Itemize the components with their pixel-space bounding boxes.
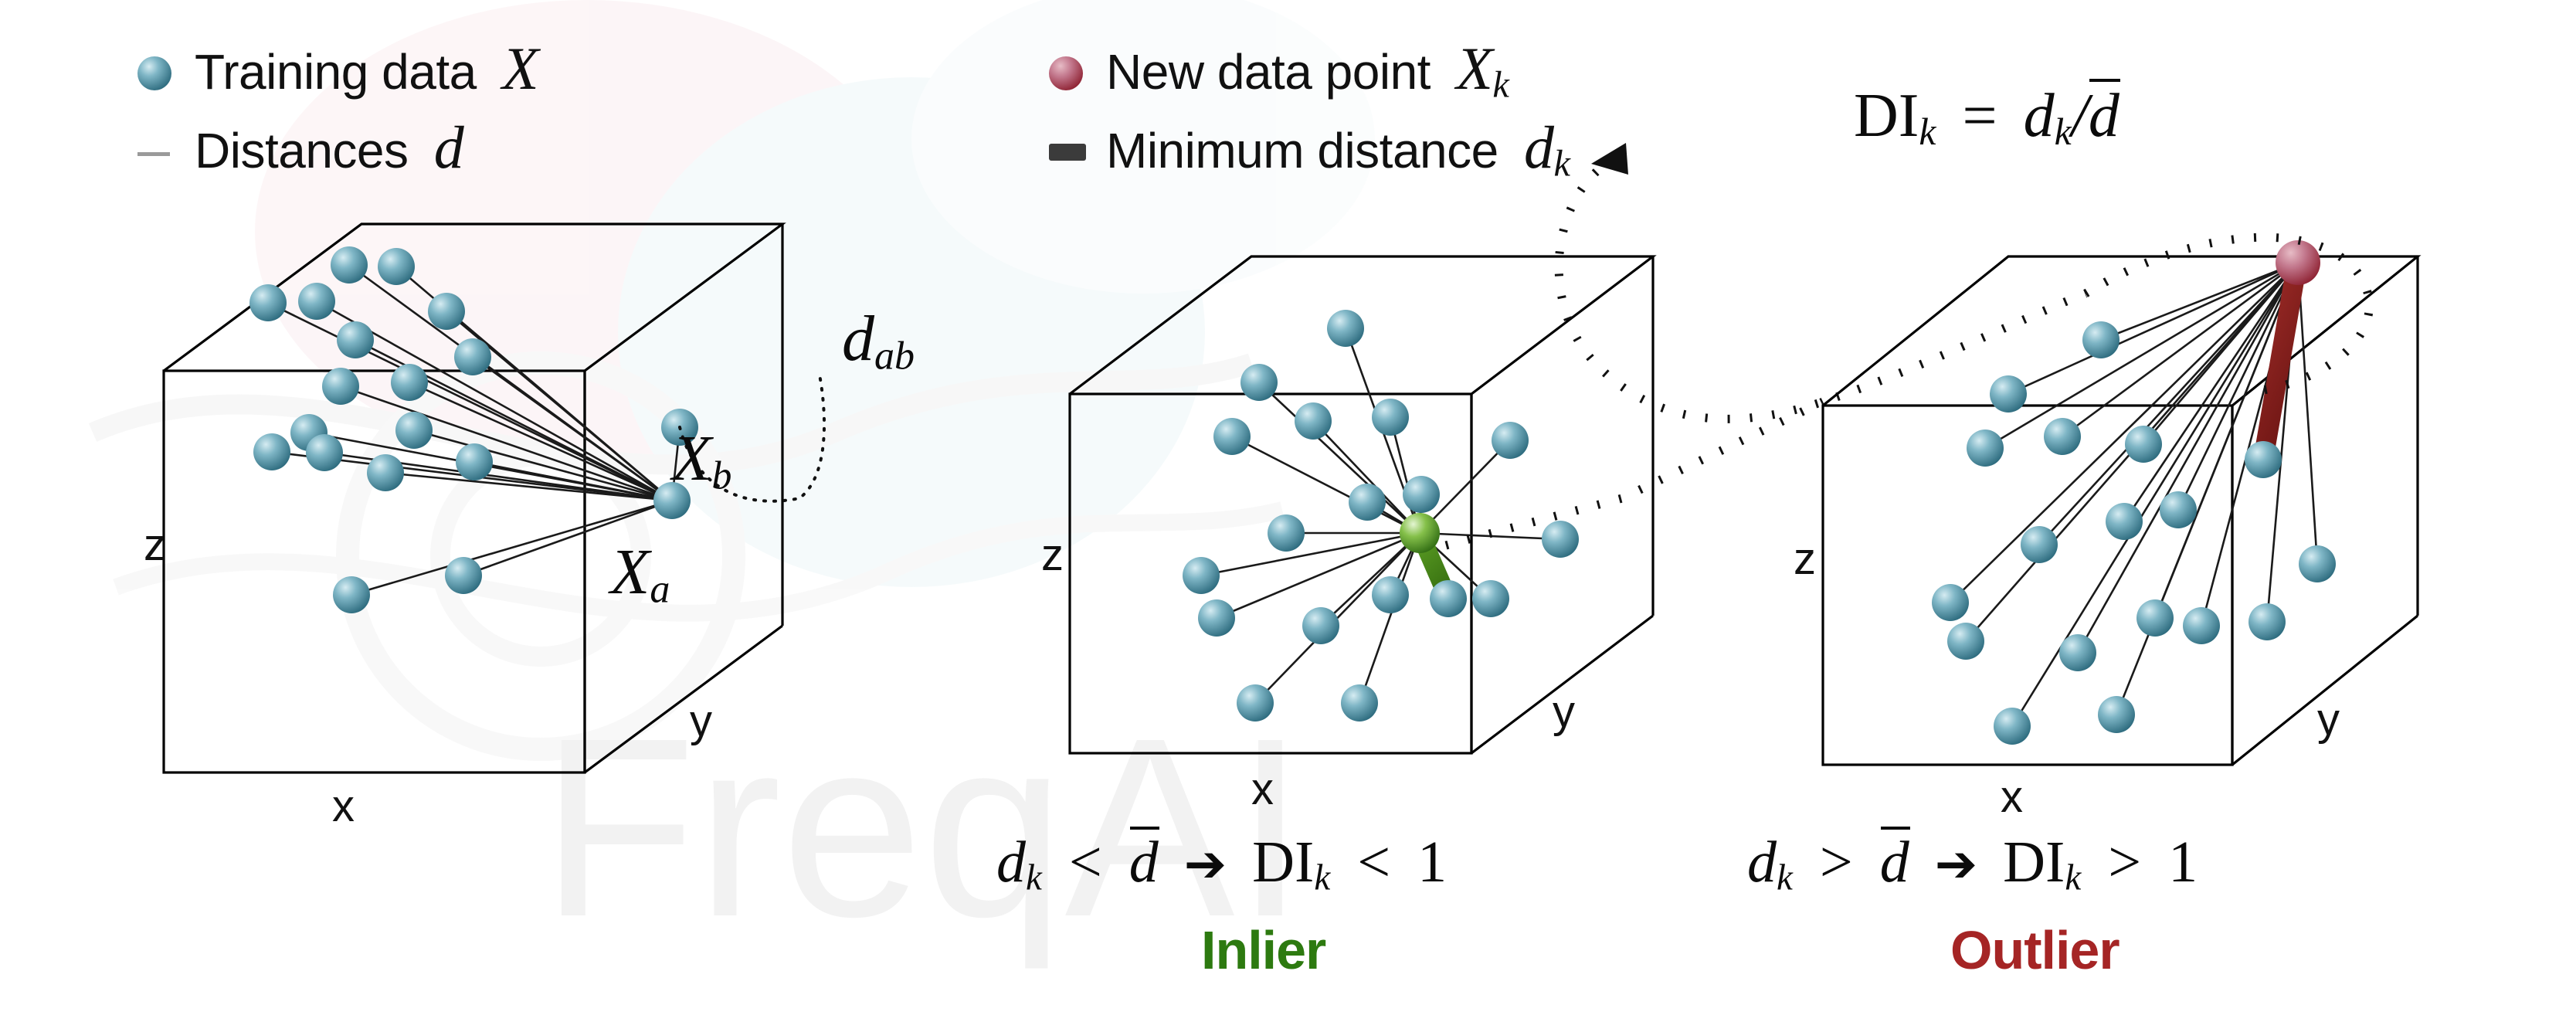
data-point — [249, 284, 287, 321]
data-point — [298, 283, 335, 320]
data-point — [1967, 430, 2004, 467]
data-point — [1372, 576, 1409, 613]
point-label-xb: Xb — [672, 421, 731, 498]
axis-label-y-3: y — [2317, 694, 2340, 745]
new-data-point-inlier — [1400, 513, 1440, 553]
data-point — [1932, 584, 1969, 621]
data-point — [322, 368, 359, 405]
data-point — [391, 364, 428, 401]
data-point — [1213, 418, 1251, 455]
data-point — [1341, 684, 1378, 722]
data-point — [1372, 399, 1409, 436]
data-point-nearest — [1430, 580, 1467, 617]
data-point — [2136, 599, 2174, 637]
data-point — [2021, 526, 2058, 563]
data-point — [1327, 310, 1364, 347]
data-point — [2044, 418, 2081, 455]
data-point — [1240, 364, 1278, 401]
data-point — [1492, 422, 1529, 459]
data-point — [1237, 684, 1274, 722]
axis-label-z-1: z — [144, 519, 166, 571]
data-point — [395, 412, 433, 449]
data-point — [1268, 514, 1305, 552]
data-point — [2160, 491, 2197, 528]
caption-formula-outlier: dk > d ➔ DIk > 1 — [1747, 829, 2198, 898]
data-point — [1990, 375, 2027, 413]
data-point — [1198, 599, 1235, 637]
data-point — [1994, 708, 2031, 745]
panel-outlier — [1823, 237, 2418, 765]
data-point — [428, 293, 465, 330]
caption-formula-inlier: dk < d ➔ DIk < 1 — [996, 829, 1447, 898]
panel-inlier — [1070, 143, 2086, 753]
data-point — [454, 338, 491, 375]
data-point — [1302, 607, 1339, 644]
data-point — [2082, 321, 2120, 358]
caption-word-inlier: Inlier — [1201, 919, 1325, 981]
callout-label-dab: dab — [842, 301, 915, 379]
caption-word-outlier: Outlier — [1950, 919, 2120, 981]
data-point — [306, 434, 343, 471]
new-data-point-outlier — [2276, 240, 2320, 285]
axis-label-y-2: y — [1553, 686, 1575, 738]
dk-leader-inlier-tail — [1446, 402, 1823, 545]
data-point — [2098, 696, 2135, 733]
data-point — [337, 321, 374, 358]
data-point — [253, 433, 290, 470]
data-point — [445, 557, 482, 594]
data-point — [333, 576, 370, 613]
axis-label-x-3: x — [2001, 771, 2023, 823]
data-point — [2183, 607, 2220, 644]
data-point — [1295, 402, 1332, 440]
data-point — [456, 443, 493, 480]
axis-label-x-2: x — [1251, 763, 1274, 815]
data-point — [331, 246, 368, 284]
diagram-root: FreqAI Training data X Distances d New d… — [0, 0, 2576, 1022]
data-point — [378, 248, 415, 285]
data-point — [2106, 503, 2143, 540]
data-point — [1947, 623, 1984, 660]
data-point — [367, 454, 404, 491]
point-label-xa: Xa — [610, 535, 670, 612]
arrow-icon: ➔ — [1924, 837, 1988, 893]
data-point — [1403, 476, 1440, 513]
data-point-nearest — [2245, 441, 2282, 478]
arrow-icon: ➔ — [1173, 837, 1237, 893]
dk-leader-arrowhead — [1591, 143, 1628, 175]
data-point — [2248, 603, 2286, 640]
training-points-2 — [1183, 310, 1579, 722]
data-point — [1542, 521, 1579, 558]
data-point — [2299, 545, 2336, 582]
axis-label-z-2: z — [1041, 529, 1064, 581]
data-point — [1472, 580, 1509, 617]
data-point — [2059, 634, 2096, 671]
axis-label-y-1: y — [690, 695, 712, 747]
axis-label-x-1: x — [332, 780, 355, 832]
data-point — [1183, 557, 1220, 594]
data-point — [2125, 426, 2162, 463]
axis-label-z-3: z — [1794, 533, 1816, 585]
data-point — [1349, 484, 1386, 521]
